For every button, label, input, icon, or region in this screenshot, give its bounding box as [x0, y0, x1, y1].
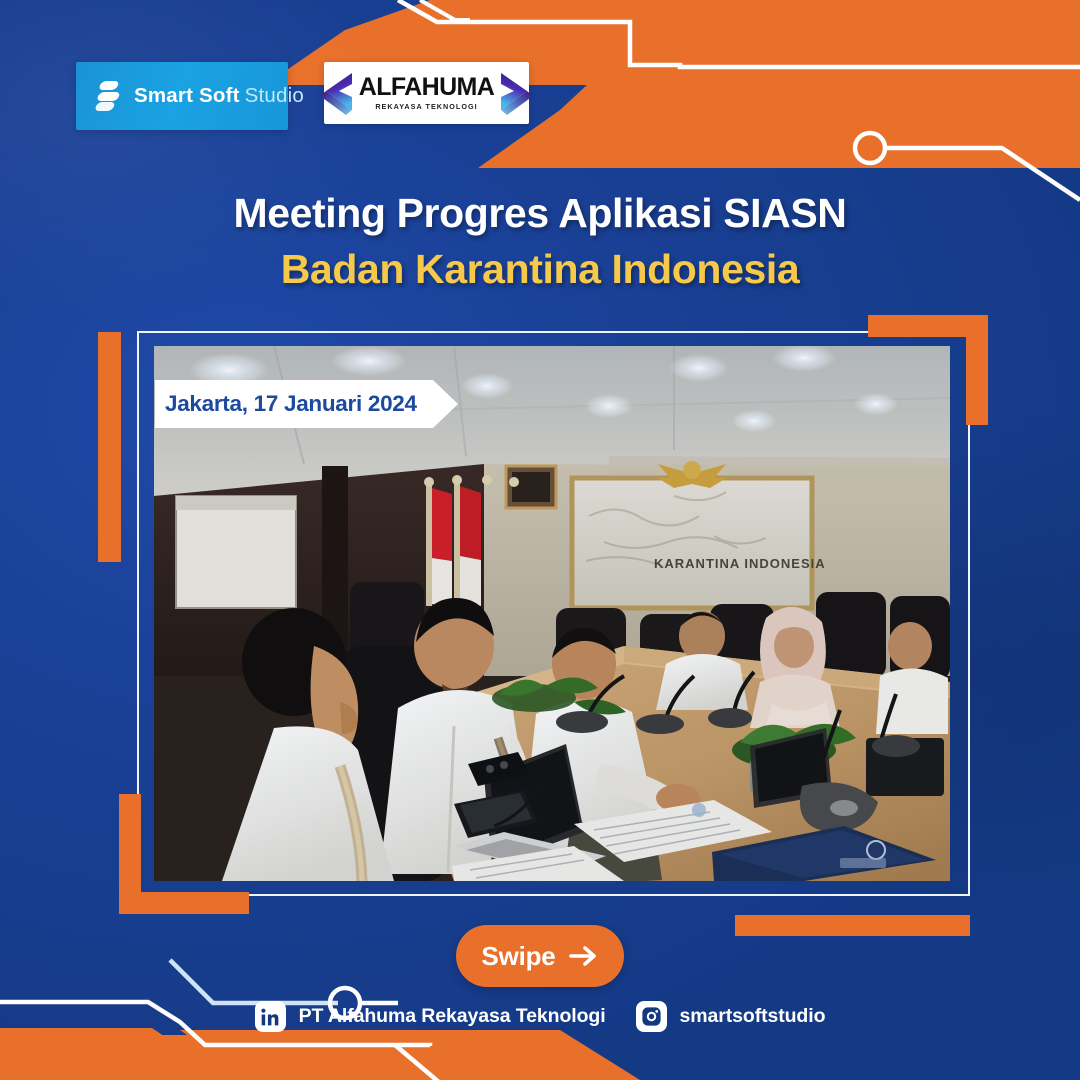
date-badge-body: Jakarta, 17 Januari 2024 — [155, 380, 433, 428]
footer-linkedin[interactable]: PT Alfahuma Rekayasa Teknologi — [255, 1001, 606, 1032]
alfahuma-tagline-text: REKAYASA TEKNOLOGI — [375, 103, 477, 110]
headline-block: Meeting Progres Aplikasi SIASN Badan Kar… — [0, 190, 1080, 293]
orange-accent-bar-left — [98, 332, 121, 562]
smart-soft-studio-light-text: Studio — [245, 84, 304, 107]
corner-bracket-bottom-left-horizontal — [119, 892, 249, 914]
orange-accent-bar-bottom-right — [735, 915, 970, 936]
corner-bracket-top-right-vertical — [966, 315, 988, 425]
arrow-right-icon — [569, 945, 599, 967]
smart-soft-studio-logo: Smart SoftStudio — [76, 62, 288, 130]
alfahuma-left-chevron-icon — [312, 70, 356, 116]
footer-instagram[interactable]: smartsoftstudio — [636, 1001, 826, 1032]
swipe-button[interactable]: Swipe — [456, 925, 624, 987]
smart-soft-studio-wordmark: Smart SoftStudio — [134, 84, 304, 108]
date-badge: Jakarta, 17 Januari 2024 — [155, 380, 458, 428]
headline-line-1: Meeting Progres Aplikasi SIASN — [0, 190, 1080, 237]
date-badge-text: Jakarta, 17 Januari 2024 — [165, 391, 417, 417]
photo-frame: KARANTINA INDONESIA — [137, 331, 970, 896]
linkedin-icon — [255, 1001, 286, 1032]
alfahuma-logo: ALFAHUMA REKAYASA TEKNOLOGI — [324, 62, 529, 124]
smart-soft-studio-bold-text: Smart Soft — [134, 84, 240, 107]
instagram-icon — [636, 1001, 667, 1032]
linkedin-handle: PT Alfahuma Rekayasa Teknologi — [299, 1005, 606, 1028]
poster-canvas: Smart SoftStudio — [0, 0, 1080, 1080]
headline-line-2: Badan Karantina Indonesia — [0, 246, 1080, 293]
logo-row: Smart SoftStudio — [76, 62, 529, 130]
smart-soft-studio-mark-icon — [96, 81, 122, 111]
swipe-button-label: Swipe — [481, 941, 555, 972]
footer-social-row: PT Alfahuma Rekayasa Teknologi smartsoft… — [0, 1001, 1080, 1032]
date-badge-arrow — [433, 380, 458, 428]
instagram-handle: smartsoftstudio — [680, 1005, 826, 1028]
alfahuma-right-chevron-icon — [497, 70, 541, 116]
alfahuma-name-text: ALFAHUMA — [359, 75, 494, 100]
